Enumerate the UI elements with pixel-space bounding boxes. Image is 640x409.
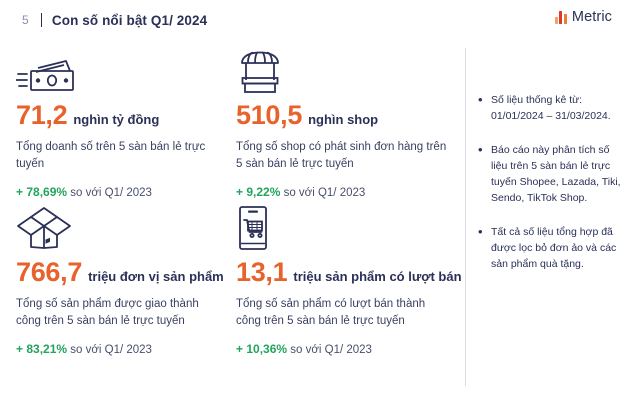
note-text: Tất cả số liệu tổng hợp đã được lọc bỏ đ… (491, 224, 628, 272)
stat-value: 510,5 (236, 102, 302, 129)
notes-panel: • Số liệu thống kê từ: 01/01/2024 – 31/0… (478, 92, 628, 290)
stat-growth-line: + 78,69% so với Q1/ 2023 (16, 185, 225, 199)
stat-card-sold-products: 13,1 triệu sản phẩm có lượt bán Tổng số … (225, 199, 460, 356)
stat-growth-comparison: so với Q1/ 2023 (70, 187, 152, 199)
bar-chart-icon (555, 10, 567, 24)
stat-description: Tổng số sản phẩm được giao thành công tr… (16, 296, 225, 330)
stats-row-1: 71,2 nghìn tỷ đồng Tổng doanh số trên 5 … (0, 42, 460, 199)
stat-growth-line: + 10,36% so với Q1/ 2023 (236, 342, 460, 356)
bullet-icon: • (478, 224, 491, 272)
stat-growth-comparison: so với Q1/ 2023 (290, 344, 372, 356)
stat-growth-value: + 83,21% (16, 342, 67, 356)
stat-description: Tổng số shop có phát sinh đơn hàng trên … (236, 139, 451, 173)
stat-value-line: 766,7 triệu đơn vị sản phẩm (16, 259, 225, 286)
note-item: • Báo cáo này phân tích số liệu trên 5 s… (478, 142, 628, 206)
stat-growth-line: + 9,22% so với Q1/ 2023 (236, 185, 460, 199)
stat-growth-value: + 9,22% (236, 185, 280, 199)
stat-unit: triệu sản phẩm có lượt bán (293, 270, 461, 283)
vertical-divider (465, 48, 466, 386)
stat-growth-comparison: so với Q1/ 2023 (70, 344, 152, 356)
banknote-icon (16, 48, 225, 94)
stat-value-line: 13,1 triệu sản phẩm có lượt bán (236, 259, 460, 286)
stat-value-line: 71,2 nghìn tỷ đồng (16, 102, 225, 129)
brand-name: Metric (572, 9, 612, 25)
stats-grid: 71,2 nghìn tỷ đồng Tổng doanh số trên 5 … (0, 42, 460, 356)
stat-value-line: 510,5 nghìn shop (236, 102, 460, 129)
stat-card-shops: 510,5 nghìn shop Tổng số shop có phát si… (225, 42, 460, 199)
stat-description: Tổng số sản phẩm có lượt bán thành công … (236, 296, 451, 330)
stat-card-revenue: 71,2 nghìn tỷ đồng Tổng doanh số trên 5 … (0, 42, 225, 199)
stat-growth-line: + 83,21% so với Q1/ 2023 (16, 342, 225, 356)
stat-value: 71,2 (16, 102, 67, 129)
bullet-icon: • (478, 92, 491, 124)
stats-row-2: 766,7 triệu đơn vị sản phẩm Tổng số sản … (0, 199, 460, 356)
header-divider (41, 13, 42, 27)
mobile-cart-icon (236, 205, 460, 251)
stat-value: 766,7 (16, 259, 82, 286)
stat-growth-comparison: so với Q1/ 2023 (284, 187, 366, 199)
note-text: Số liệu thống kê từ: 01/01/2024 – 31/03/… (491, 92, 628, 124)
stat-card-delivered: 766,7 triệu đơn vị sản phẩm Tổng số sản … (0, 199, 225, 356)
brand-logo: Metric (555, 9, 612, 25)
page-title: Con số nổi bật Q1/ 2024 (52, 13, 207, 28)
stat-growth-value: + 78,69% (16, 185, 67, 199)
stat-unit: nghìn shop (308, 113, 378, 126)
open-box-icon (16, 205, 225, 251)
note-item: • Số liệu thống kê từ: 01/01/2024 – 31/0… (478, 92, 628, 124)
page-header: 5 Con số nổi bật Q1/ 2024 (0, 0, 640, 40)
stat-value: 13,1 (236, 259, 287, 286)
stat-unit: triệu đơn vị sản phẩm (88, 270, 224, 283)
stat-description: Tổng doanh số trên 5 sàn bán lẻ trực tuy… (16, 139, 225, 173)
note-text: Báo cáo này phân tích số liệu trên 5 sàn… (491, 142, 628, 206)
stat-unit: nghìn tỷ đồng (73, 113, 159, 126)
storefront-icon (236, 48, 460, 94)
slide-number: 5 (22, 13, 29, 27)
note-item: • Tất cả số liệu tổng hợp đã được lọc bỏ… (478, 224, 628, 272)
bullet-icon: • (478, 142, 491, 206)
stat-growth-value: + 10,36% (236, 342, 287, 356)
